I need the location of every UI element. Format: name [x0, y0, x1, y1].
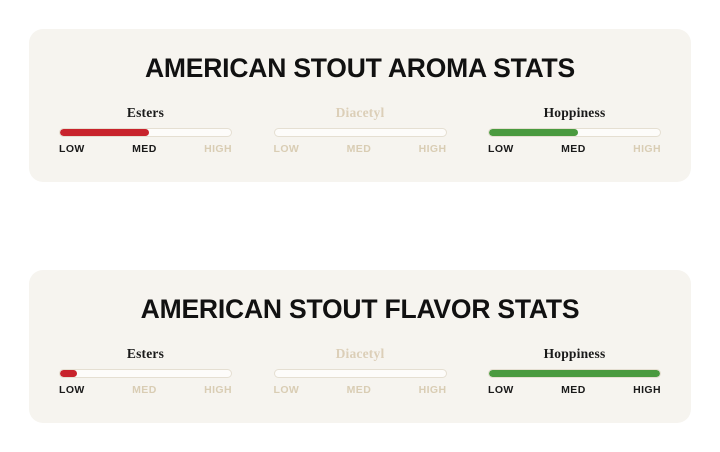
meter-esters-aroma: Esters LOW MED HIGH — [59, 105, 232, 155]
meter-diacetyl-aroma: Diacetyl LOW MED HIGH — [274, 105, 447, 155]
meter-hoppiness-aroma: Hoppiness LOW MED HIGH — [488, 105, 661, 155]
meter-track-hoppiness-aroma[interactable] — [488, 128, 661, 137]
meter-track-diacetyl-aroma[interactable] — [274, 128, 447, 137]
meter-label-hoppiness-flavor: Hoppiness — [488, 346, 661, 362]
scale-label-low: LOW — [488, 384, 514, 396]
meter-label-diacetyl-flavor: Diacetyl — [274, 346, 447, 362]
scale-label-high: HIGH — [633, 384, 661, 396]
scale-label-low: LOW — [488, 143, 514, 155]
scale-label-low: LOW — [274, 384, 300, 396]
meter-scale-diacetyl-aroma: LOW MED HIGH — [274, 143, 447, 155]
flavor-stats-card: AMERICAN STOUT FLAVOR STATS Esters LOW M… — [29, 270, 691, 423]
scale-label-med: MED — [132, 384, 157, 396]
scale-label-high: HIGH — [419, 384, 447, 396]
meter-fill-hoppiness-aroma — [489, 129, 578, 136]
scale-label-low: LOW — [274, 143, 300, 155]
scale-label-low: LOW — [59, 384, 85, 396]
meter-label-diacetyl-aroma: Diacetyl — [274, 105, 447, 121]
meter-track-esters-aroma[interactable] — [59, 128, 232, 137]
meter-fill-hoppiness-flavor — [489, 370, 660, 377]
meter-scale-hoppiness-aroma: LOW MED HIGH — [488, 143, 661, 155]
meter-fill-esters-aroma — [60, 129, 149, 136]
meter-esters-flavor: Esters LOW MED HIGH — [59, 346, 232, 396]
scale-label-low: LOW — [59, 143, 85, 155]
meter-scale-esters-aroma: LOW MED HIGH — [59, 143, 232, 155]
scale-label-high: HIGH — [204, 384, 232, 396]
aroma-meter-group: Esters LOW MED HIGH Diacetyl LOW MED HIG… — [29, 105, 691, 155]
meter-scale-esters-flavor: LOW MED HIGH — [59, 384, 232, 396]
scale-label-high: HIGH — [204, 143, 232, 155]
scale-label-high: HIGH — [633, 143, 661, 155]
aroma-card-title: AMERICAN STOUT AROMA STATS — [29, 29, 691, 84]
meter-track-hoppiness-flavor[interactable] — [488, 369, 661, 378]
flavor-card-title: AMERICAN STOUT FLAVOR STATS — [29, 270, 691, 325]
flavor-meter-group: Esters LOW MED HIGH Diacetyl LOW MED HIG… — [29, 346, 691, 396]
scale-label-med: MED — [561, 384, 586, 396]
aroma-stats-card: AMERICAN STOUT AROMA STATS Esters LOW ME… — [29, 29, 691, 182]
meter-scale-diacetyl-flavor: LOW MED HIGH — [274, 384, 447, 396]
meter-track-esters-flavor[interactable] — [59, 369, 232, 378]
meter-scale-hoppiness-flavor: LOW MED HIGH — [488, 384, 661, 396]
meter-fill-esters-flavor — [60, 370, 77, 377]
scale-label-med: MED — [132, 143, 157, 155]
meter-label-esters-flavor: Esters — [59, 346, 232, 362]
scale-label-med: MED — [347, 384, 372, 396]
meter-diacetyl-flavor: Diacetyl LOW MED HIGH — [274, 346, 447, 396]
scale-label-med: MED — [561, 143, 586, 155]
meter-track-diacetyl-flavor[interactable] — [274, 369, 447, 378]
meter-hoppiness-flavor: Hoppiness LOW MED HIGH — [488, 346, 661, 396]
scale-label-high: HIGH — [419, 143, 447, 155]
scale-label-med: MED — [347, 143, 372, 155]
meter-label-hoppiness-aroma: Hoppiness — [488, 105, 661, 121]
meter-label-esters-aroma: Esters — [59, 105, 232, 121]
